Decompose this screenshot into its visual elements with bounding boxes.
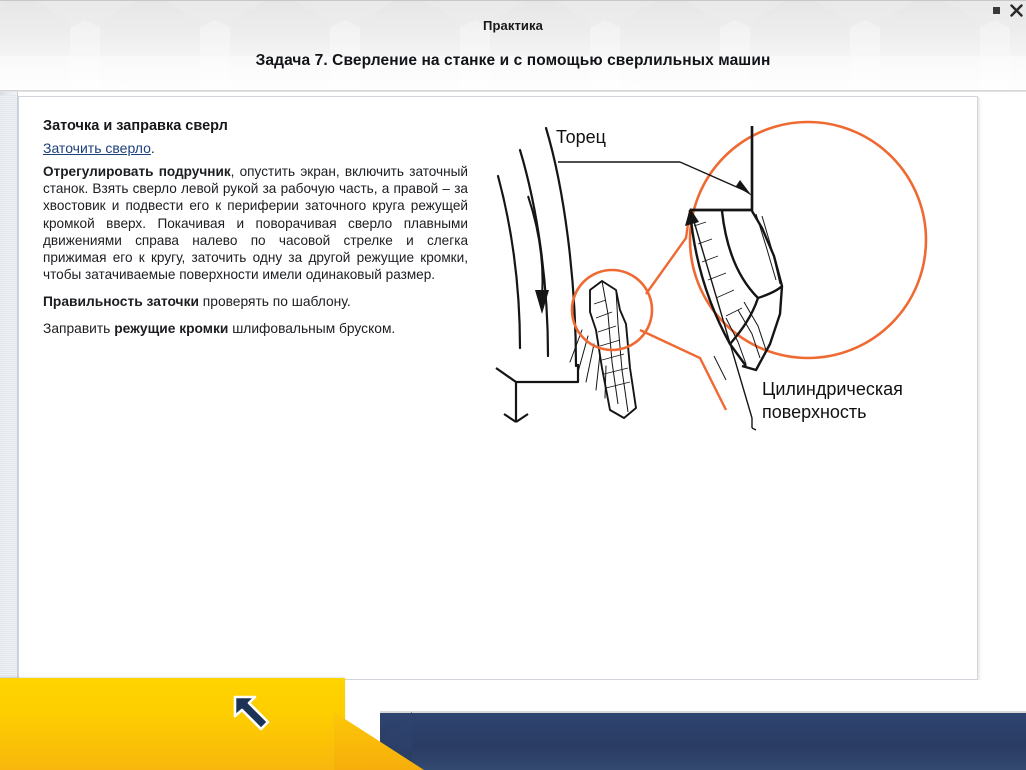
magnifier-connector-lower [640, 330, 726, 410]
left-edge-texture [0, 95, 17, 695]
wheel-arc-outer [546, 128, 576, 366]
left-edge-strip [0, 0, 18, 722]
instruction-text-column: Заточка и заправка сверл Заточить сверло… [43, 118, 468, 347]
minimize-icon[interactable] [990, 4, 1003, 17]
back-navigation-button[interactable] [228, 692, 278, 736]
check-sharpening-rest: проверять по шаблону. [199, 294, 351, 309]
header-top-rule [0, 0, 1026, 1]
header-bottom-rule [0, 90, 1026, 92]
cylindrical-surface-label: Цилиндрическая поверхность [762, 378, 903, 424]
dress-edges-paragraph: Заправить режущие кромки шлифовальным бр… [43, 320, 468, 338]
check-sharpening-bold: Правильность заточки [43, 294, 199, 309]
drill-large-flutes [714, 214, 780, 380]
magnifier-small-circle [572, 270, 652, 350]
content-panel: Заточка и заправка сверл Заточить сверло… [18, 96, 978, 680]
dress-edges-bold: режущие кромки [114, 321, 228, 336]
header-banner: Практика Задача 7. Сверление на станке и… [0, 0, 1026, 92]
back-arrow-icon[interactable] [228, 692, 278, 736]
drill-large-body [690, 210, 782, 370]
footer-yellow-bar [0, 678, 345, 770]
dress-edges-pre: Заправить [43, 321, 114, 336]
main-instruction-paragraph: Отрегулировать подручник, опустить экран… [43, 163, 468, 283]
magnifier-connector-upper [646, 210, 690, 294]
face-label-leader [558, 162, 752, 196]
grinding-wheel [498, 128, 576, 366]
main-paragraph-lead: Отрегулировать подручник [43, 164, 231, 179]
sharpen-drill-period: . [151, 140, 155, 156]
wheel-arc-mid [520, 150, 548, 356]
sharpen-drill-link[interactable]: Заточить сверло [43, 140, 151, 156]
header-hex-pattern [0, 0, 1026, 92]
cylindrical-surface-label-line2: поверхность [762, 401, 903, 424]
main-paragraph-rest: , опустить экран, включить заточный стан… [43, 164, 468, 282]
page-title: Задача 7. Сверление на станке и с помощь… [0, 52, 1026, 70]
window-controls [990, 2, 1023, 18]
footer-navy-band [380, 712, 1026, 770]
check-sharpening-paragraph: Правильность заточки проверять по шаблон… [43, 293, 468, 311]
slide-window: Практика Задача 7. Сверление на станке и… [0, 0, 1026, 770]
drill-sharpening-diagram: Торец Цилиндрическая поверхность [490, 118, 960, 558]
close-icon[interactable] [1010, 4, 1023, 17]
magnifier-large-circle [690, 122, 926, 358]
dress-edges-rest: шлифовальным бруском. [228, 321, 395, 336]
rotation-arrow [528, 196, 549, 314]
sharpen-drill-link-row: Заточить сверло. [43, 140, 468, 156]
content-panel-inner: Заточка и заправка сверл Заточить сверло… [19, 97, 977, 679]
practice-label: Практика [0, 18, 1026, 33]
face-label: Торец [556, 127, 606, 148]
section-heading: Заточка и заправка сверл [43, 118, 468, 134]
footer-navy-top-edge [380, 711, 1026, 713]
grinder-rest [496, 364, 578, 422]
cylindrical-surface-label-line1: Цилиндрическая [762, 378, 903, 401]
wheel-arc-inner [498, 176, 520, 348]
